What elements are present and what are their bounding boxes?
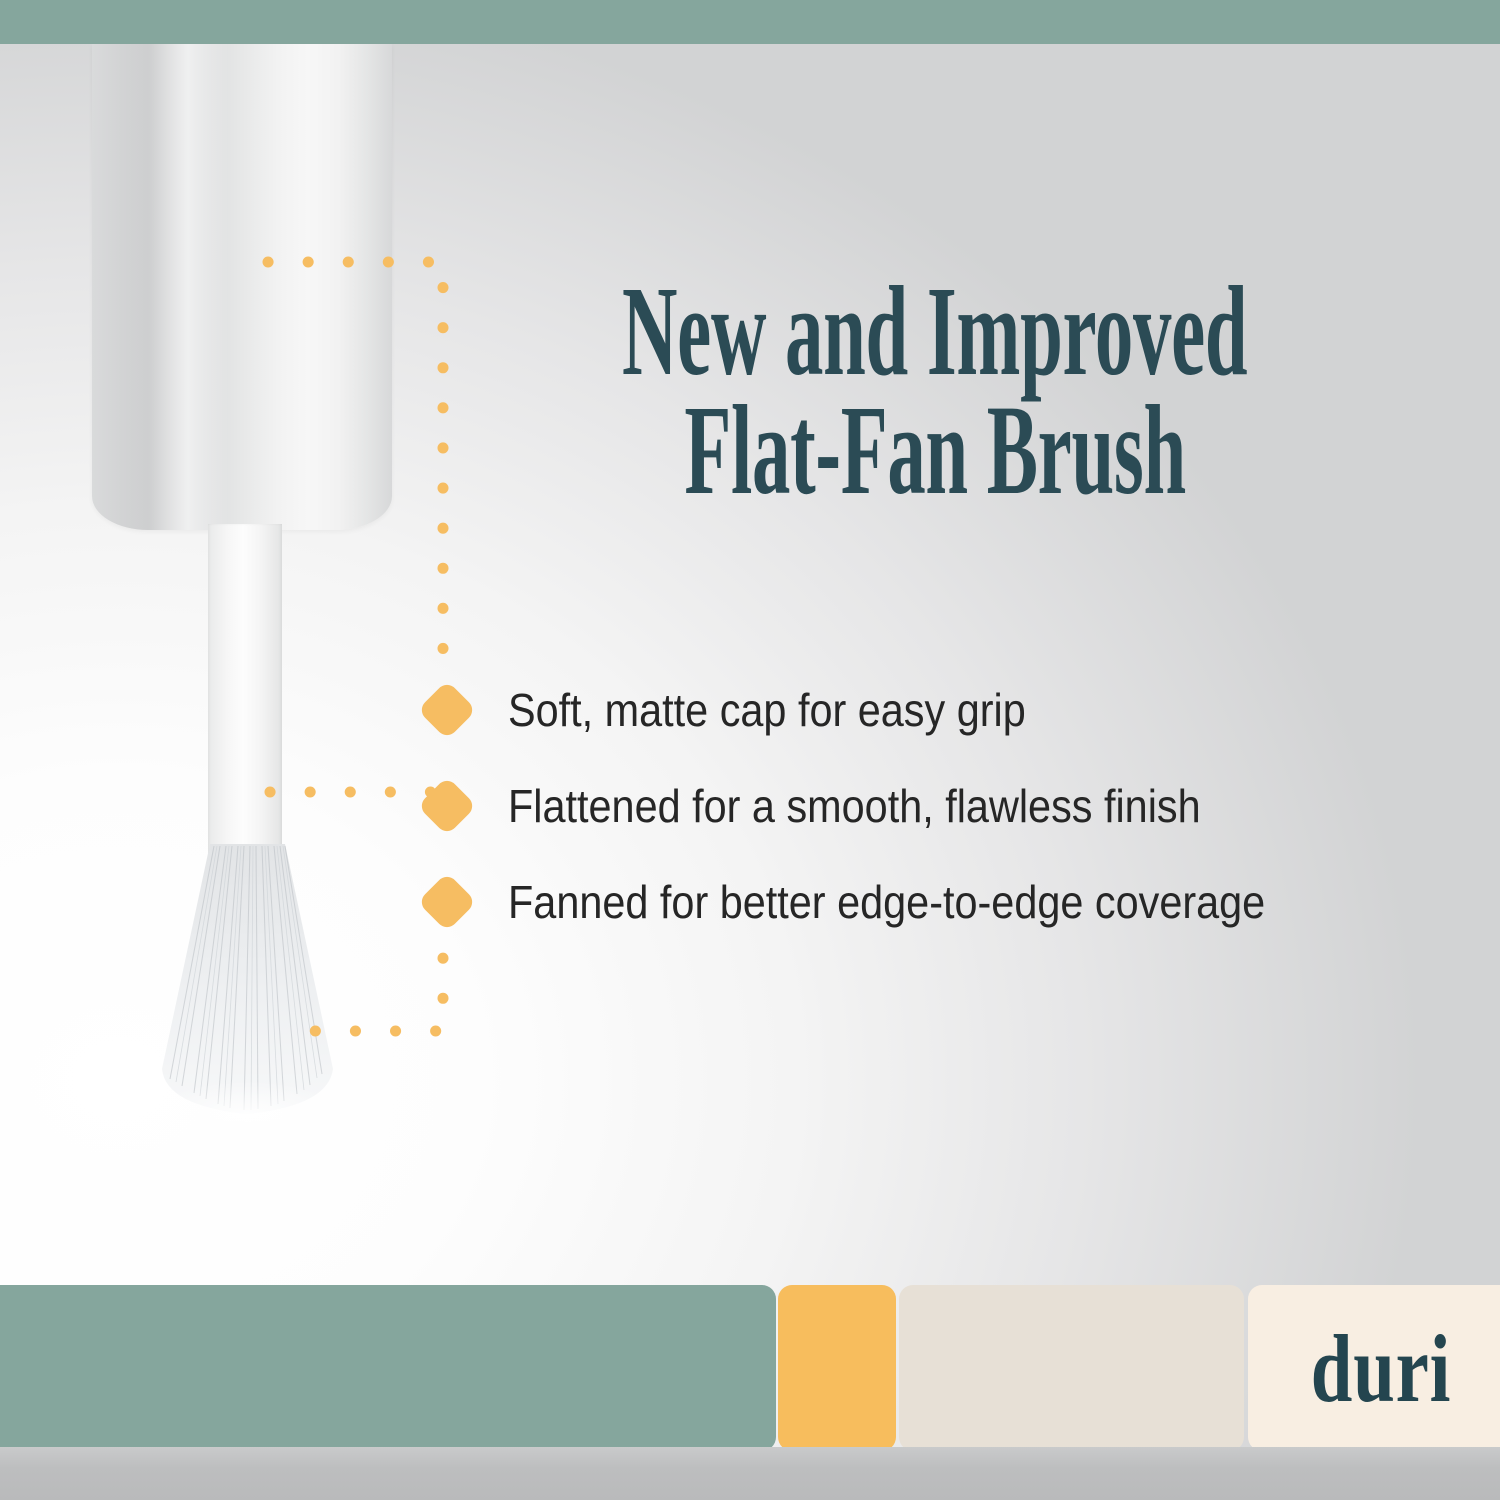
footer-color-bar: duri — [0, 1285, 1500, 1451]
top-accent-bar — [0, 0, 1500, 44]
feature-label: Soft, matte cap for easy grip — [508, 687, 1026, 733]
list-item: Flattened for a smooth, flawless finish — [420, 758, 1460, 854]
footer-segment-beige — [899, 1285, 1244, 1451]
brand-logo-text: duri — [1311, 1313, 1451, 1424]
infographic-canvas: New and Improved Flat-Fan Brush Soft, ma… — [0, 0, 1500, 1500]
page-title: New and Improved Flat-Fan Brush — [622, 272, 1426, 510]
footer-segment-green — [0, 1285, 776, 1451]
product-photo — [0, 44, 560, 1164]
feature-label: Fanned for better edge-to-edge coverage — [508, 879, 1265, 925]
diamond-bullet-icon — [417, 776, 476, 835]
diamond-bullet-icon — [417, 680, 476, 739]
footer-base-shadow — [0, 1447, 1500, 1500]
list-item: Soft, matte cap for easy grip — [420, 662, 1460, 758]
feature-list: Soft, matte cap for easy grip Flattened … — [420, 662, 1460, 950]
brush-stem-edge — [208, 524, 282, 854]
brush-bristles — [140, 844, 355, 1124]
brush-cap — [92, 44, 392, 530]
diamond-bullet-icon — [417, 872, 476, 931]
list-item: Fanned for better edge-to-edge coverage — [420, 854, 1460, 950]
brand-logo: duri — [1248, 1285, 1500, 1451]
headline-line-2: Flat-Fan Brush — [684, 391, 1426, 510]
footer-segment-amber — [778, 1285, 896, 1451]
feature-label: Flattened for a smooth, flawless finish — [508, 783, 1201, 829]
